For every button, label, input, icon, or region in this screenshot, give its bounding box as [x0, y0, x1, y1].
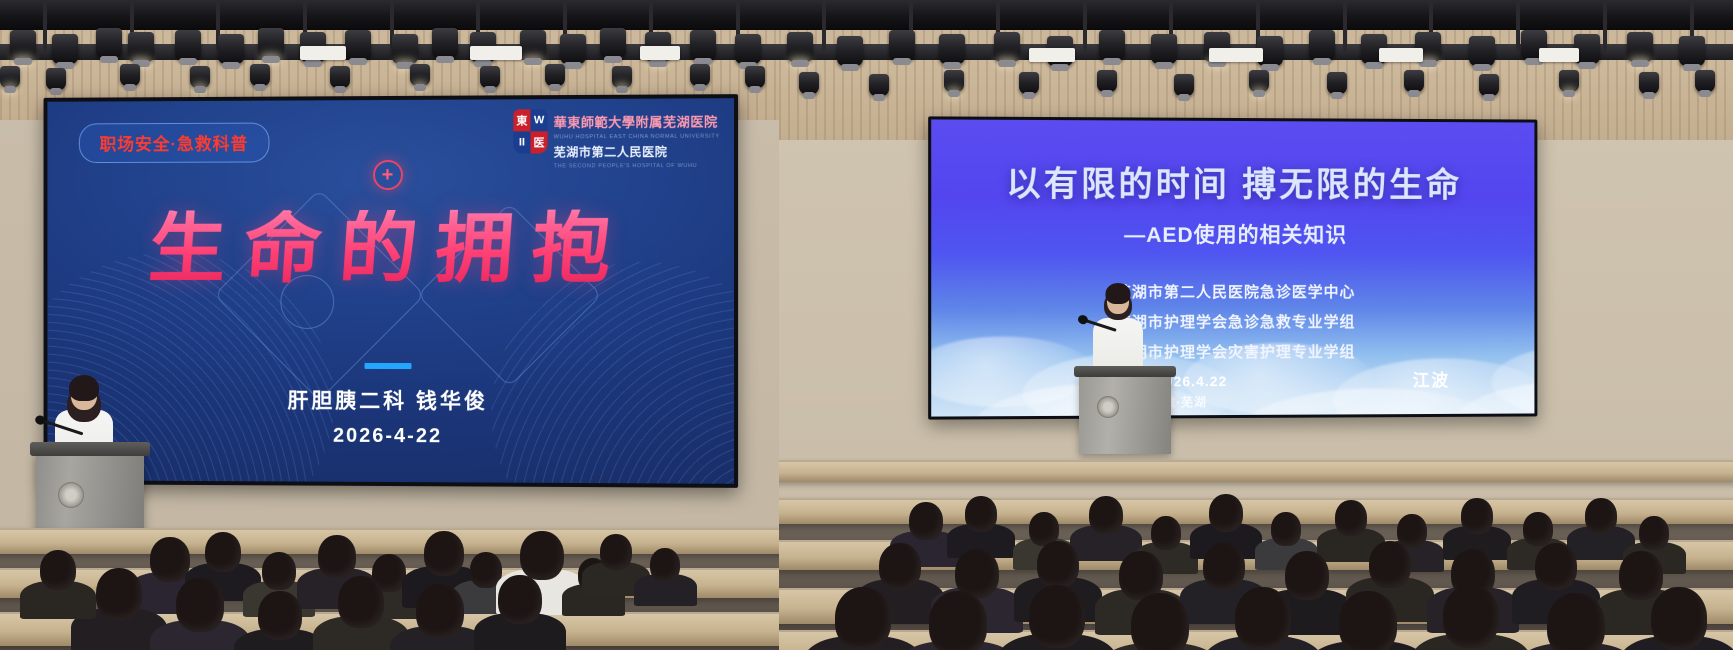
- stage-light: [46, 68, 66, 90]
- audience-head: [498, 575, 542, 624]
- org-line-2: 芜湖市护理学会急诊急救专业学组: [931, 311, 1534, 333]
- stage-light: [0, 66, 20, 88]
- truss-rod: [822, 0, 826, 52]
- audience-head: [1209, 494, 1243, 532]
- audience-head: [1461, 498, 1493, 534]
- audience-head: [1639, 516, 1669, 550]
- stage-light: [944, 70, 964, 92]
- truss-rod: [43, 0, 47, 52]
- audience-head: [1651, 587, 1707, 650]
- audience-head: [318, 535, 356, 578]
- logo-university-name-cn: 華東師範大學附属芜湖医院: [554, 111, 720, 131]
- audience-head: [1585, 498, 1617, 534]
- ceiling-projector: [1029, 48, 1075, 62]
- stage-light: [218, 34, 244, 64]
- audience-head: [176, 578, 224, 632]
- ceiling-projector: [1379, 48, 1423, 62]
- stage-light: [120, 64, 140, 86]
- stage-light: [96, 28, 122, 58]
- left-slide-badge: 职场安全·急救科普: [79, 123, 269, 164]
- audience-head: [1547, 593, 1605, 650]
- stage-light: [1174, 74, 1194, 96]
- stage-light: [1627, 32, 1653, 62]
- audience-head: [262, 552, 296, 590]
- stage-light: [1679, 36, 1705, 66]
- audience-head: [1369, 541, 1411, 588]
- stage-light: [392, 34, 418, 64]
- stage-light: [994, 32, 1020, 62]
- stage-light: [330, 66, 350, 88]
- crest-glyph-2: W: [531, 109, 548, 131]
- left-slide-divider: [364, 363, 411, 369]
- stage-light: [1695, 70, 1715, 92]
- audience-head: [1089, 496, 1123, 534]
- stage-light: [600, 28, 626, 58]
- logo-hospital-name-en: THE SECOND PEOPLE'S HOSPITAL OF WUHU: [554, 163, 720, 170]
- truss-rod: [1083, 0, 1087, 52]
- audience-head: [150, 537, 190, 582]
- left-slide-main-title: 生命的拥抱: [45, 209, 737, 288]
- stage-light: [939, 34, 965, 64]
- left-audience-area: [0, 420, 779, 650]
- right-audience-area: [779, 350, 1733, 650]
- audience-head: [835, 587, 891, 650]
- screenshot-root: 职场安全·急救科普 東 W II 医 華東師範大學附属芜湖医院 WUHU HOS…: [0, 0, 1733, 650]
- audience-head: [1271, 512, 1301, 546]
- stage-light: [545, 64, 565, 86]
- truss-rod: [1603, 0, 1607, 52]
- audience-head: [1443, 585, 1499, 648]
- stage-light: [1097, 70, 1117, 92]
- right-slide-cloud-decor: [931, 119, 1534, 122]
- stage-light: [1327, 72, 1347, 94]
- audience-head: [650, 548, 680, 582]
- audience-head: [929, 591, 987, 650]
- audience-head: [96, 568, 142, 620]
- stage-light: [258, 28, 284, 58]
- ceiling-projector: [300, 46, 346, 60]
- audience-head: [600, 534, 632, 570]
- audience-head: [1285, 551, 1329, 600]
- right-slide-subtitle: —AED使用的相关知识: [931, 218, 1534, 249]
- seat-row: [779, 460, 1733, 482]
- stage-light: [560, 34, 586, 64]
- stage-light: [869, 74, 889, 96]
- stage-light: [745, 66, 765, 88]
- stage-light: [1559, 70, 1579, 92]
- stage-light: [1099, 30, 1125, 60]
- ceiling-projector: [1209, 48, 1263, 62]
- audience-head: [1151, 516, 1181, 550]
- ceiling-projector: [470, 46, 522, 60]
- stage-light: [345, 30, 371, 60]
- stage-light: [410, 64, 430, 86]
- stage-light: [52, 34, 78, 64]
- right-slide-title: 以有限的时间 搏无限的生命: [931, 156, 1534, 207]
- org-line-1: 芜湖市第二人民医院急诊医学中心: [931, 281, 1534, 302]
- stage-light: [735, 34, 761, 64]
- stage-light: [1309, 30, 1335, 60]
- audience-head: [1037, 541, 1079, 588]
- audience-head: [1619, 551, 1663, 600]
- university-crest-icon: 東 W II 医: [513, 109, 547, 153]
- truss-rod: [1343, 0, 1347, 52]
- audience-head: [416, 584, 464, 638]
- stage-light: [690, 30, 716, 60]
- logo-hospital-name-cn: 芜湖市第二人民医院: [554, 143, 720, 161]
- audience-head: [1535, 543, 1577, 590]
- audience-head: [965, 496, 997, 532]
- stage-light: [1479, 74, 1499, 96]
- crest-glyph-3: II: [513, 131, 530, 153]
- stage-light: [1404, 70, 1424, 92]
- stage-light: [1469, 36, 1495, 66]
- audience-head: [258, 591, 302, 640]
- ceiling-projector: [1539, 48, 1579, 62]
- stage-light: [190, 66, 210, 88]
- stage-light: [799, 72, 819, 94]
- audience-head: [1523, 512, 1553, 546]
- stage-light: [837, 36, 863, 66]
- stage-light: [889, 30, 915, 60]
- audience-head: [40, 550, 76, 590]
- audience-head: [1203, 543, 1245, 590]
- right-photo: 以有限的时间 搏无限的生命 —AED使用的相关知识 芜湖市第二人民医院急诊医学中…: [779, 0, 1733, 650]
- audience-head: [338, 576, 384, 628]
- stage-light: [1639, 72, 1659, 94]
- ceiling-projector: [640, 46, 680, 60]
- stage-light: [690, 64, 710, 86]
- audience-head: [1339, 591, 1397, 650]
- left-slide-hospital-logo: 東 W II 医 華東師範大學附属芜湖医院 WUHU HOSPITAL EAST…: [513, 108, 719, 169]
- audience-head: [1335, 500, 1367, 536]
- audience-head: [1131, 593, 1189, 650]
- stage-light: [1151, 34, 1177, 64]
- truss-rod: [1516, 0, 1520, 52]
- left-photo: 职场安全·急救科普 東 W II 医 華東師範大學附属芜湖医院 WUHU HOS…: [0, 0, 779, 650]
- stage-light: [432, 28, 458, 58]
- logo-university-name-en: WUHU HOSPITAL EAST CHINA NORMAL UNIVERSI…: [554, 134, 720, 141]
- audience-head: [879, 543, 921, 590]
- audience-head: [205, 532, 241, 572]
- crest-glyph-1: 東: [513, 109, 530, 131]
- stage-light: [1249, 70, 1269, 92]
- crest-glyph-4: 医: [531, 131, 548, 153]
- stage-light: [787, 32, 813, 62]
- audience-head: [1029, 585, 1085, 648]
- stage-light: [612, 66, 632, 88]
- audience-head: [520, 531, 564, 580]
- audience-head: [1235, 587, 1291, 650]
- stage-light: [1019, 72, 1039, 94]
- audience-head: [909, 502, 943, 540]
- stage-light: [175, 30, 201, 60]
- stage-light: [250, 64, 270, 86]
- stage-light: [520, 30, 546, 60]
- stage-light: [128, 32, 154, 62]
- audience-head: [424, 531, 464, 576]
- audience-head: [1397, 514, 1427, 548]
- stage-light: [10, 30, 36, 60]
- medical-cross-icon: +: [373, 160, 403, 190]
- stage-light: [480, 66, 500, 88]
- left-slide-byline: 肝胆胰二科 钱华俊: [47, 384, 734, 416]
